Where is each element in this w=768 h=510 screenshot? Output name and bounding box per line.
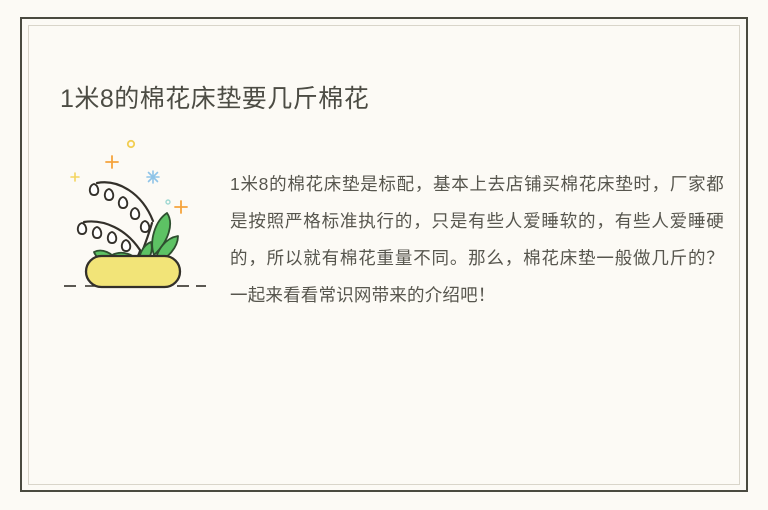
sparkle-teal-tiny-icon (166, 200, 170, 204)
sparkle-orange-right-icon (175, 201, 187, 213)
flower-pot-icon (86, 256, 180, 287)
flower-bells-upper-icon (90, 184, 149, 232)
article-body-text: 1米8的棉花床垫是标配，基本上去店铺买棉花床垫时，厂家都是按照严格标准执行的，只… (230, 166, 724, 314)
lily-of-the-valley-potted-plant-icon (56, 135, 211, 295)
sparkle-orange-star-icon (106, 156, 118, 168)
flower-bells-lower-icon (78, 223, 130, 251)
sparkle-yellow-dot-icon (128, 141, 134, 147)
page-root: 1米8的棉花床垫要几斤棉花 (0, 0, 768, 510)
page-title: 1米8的棉花床垫要几斤棉花 (60, 83, 369, 115)
sparkle-yellow-small-icon (71, 173, 79, 181)
sparkle-blue-snowflake-icon (147, 171, 159, 183)
